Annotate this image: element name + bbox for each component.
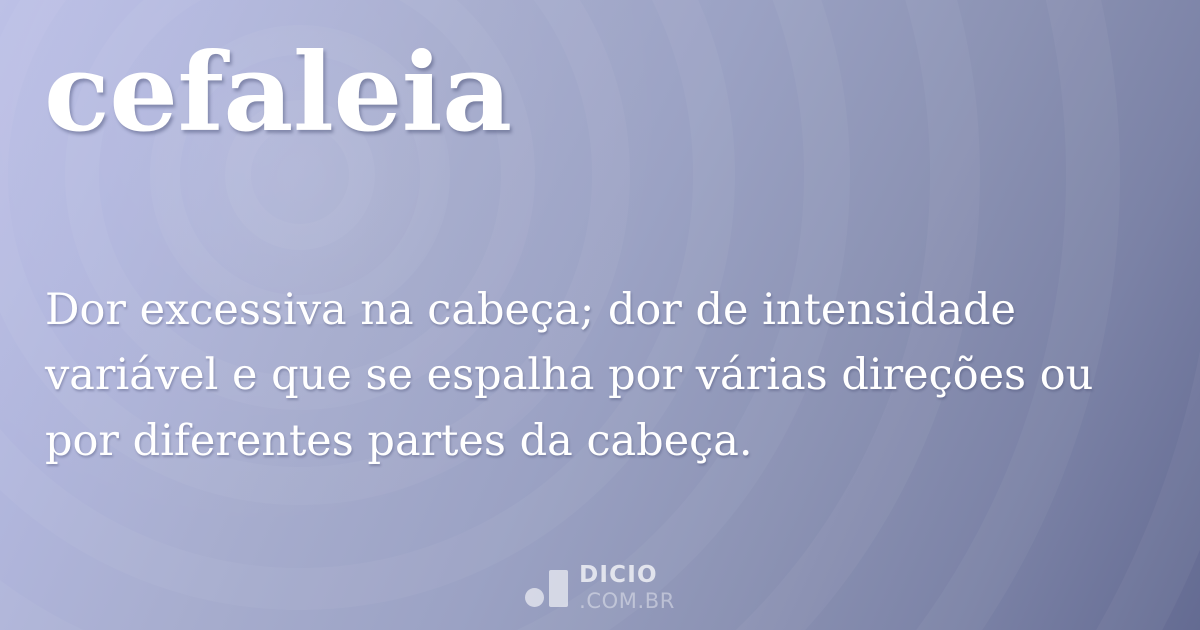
headword-title: cefaleia (44, 36, 512, 150)
brand-name-label: DICIO (579, 564, 675, 587)
bar-mark-icon (549, 570, 568, 607)
word-card: cefaleia Dor excessiva na cabeça; dor de… (0, 0, 1200, 630)
brand-mark-icon (525, 569, 568, 607)
circle-mark-icon (525, 588, 544, 607)
brand-tld-label: .COM.BR (579, 591, 675, 612)
brand-wordmark: DICIO .COM.BR (579, 564, 675, 612)
definition-text: Dor excessiva na cabeça; dor de intensid… (45, 278, 1155, 474)
card-content: cefaleia Dor excessiva na cabeça; dor de… (0, 0, 1200, 630)
dicio-brand-logo: DICIO .COM.BR (0, 564, 1200, 612)
